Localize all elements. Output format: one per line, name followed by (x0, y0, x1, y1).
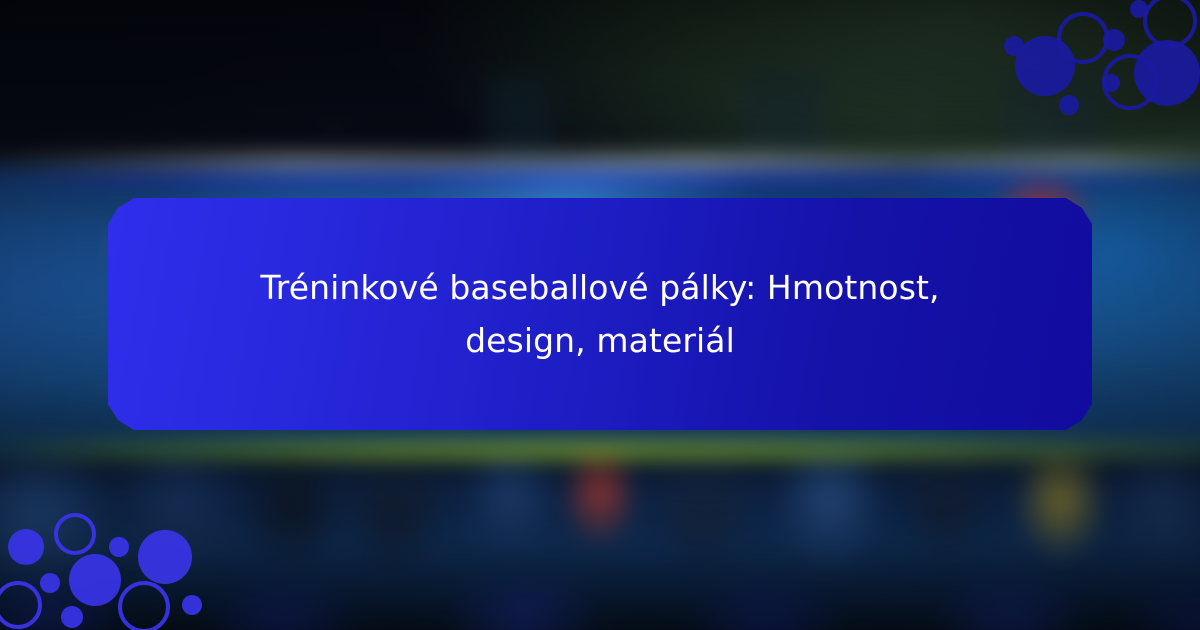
title-card: Tréninkové baseballové pálky: Hmotnost,d… (108, 198, 1092, 430)
page-title: Tréninkové baseballové pálky: Hmotnost,d… (166, 261, 1034, 368)
circle-cluster-top-right (990, 0, 1200, 120)
og-image-card: Tréninkové baseballové pálky: Hmotnost,d… (0, 0, 1200, 630)
circle-cluster-top-right-icon (990, 0, 1200, 120)
circle-cluster-bottom-left (0, 505, 215, 630)
circle-cluster-bottom-left-icon (0, 505, 215, 630)
